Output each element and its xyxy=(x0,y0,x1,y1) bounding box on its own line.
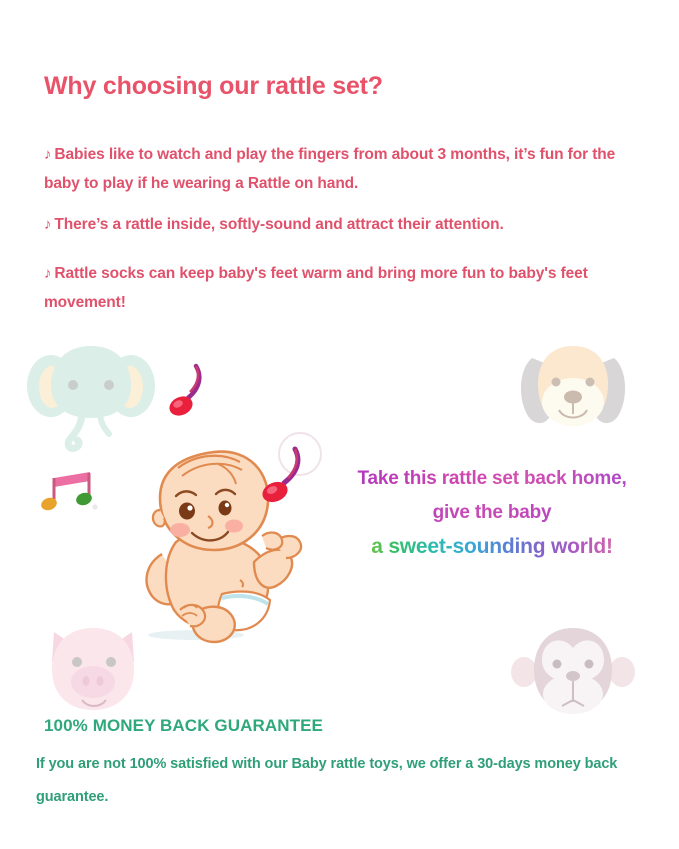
music-note-bullet-icon: ♪ xyxy=(44,216,54,233)
feature-bullet-text: Babies like to watch and play the finger… xyxy=(44,146,615,192)
music-note-bullet-icon: ♪ xyxy=(44,146,54,163)
music-note-single-mid-icon xyxy=(258,446,310,508)
page-title: Why choosing our rattle set? xyxy=(44,72,383,101)
monkey-face-icon xyxy=(510,620,636,730)
slogan-line-2: give the baby xyxy=(322,496,662,530)
feature-bullet: ♪Babies like to watch and play the finge… xyxy=(44,140,624,198)
feature-bullet-text: Rattle socks can keep baby's feet warm a… xyxy=(44,265,588,311)
music-note-beamed-pair-icon xyxy=(40,466,100,520)
feature-bullet-text: There’s a rattle inside, softly-sound an… xyxy=(54,216,503,233)
slogan-line-1: Take this rattle set back home, xyxy=(322,462,662,496)
slogan-line-3: a sweet-sounding world! xyxy=(322,530,662,564)
music-note-single-top-icon xyxy=(166,362,212,422)
feature-bullet: ♪There’s a rattle inside, softly-sound a… xyxy=(44,210,624,239)
slogan-block: Take this rattle set back home, give the… xyxy=(322,462,662,564)
guarantee-body-text: If you are not 100% satisfied with our B… xyxy=(36,748,652,814)
guarantee-title: 100% MONEY BACK GUARANTEE xyxy=(44,716,323,736)
music-note-bullet-icon: ♪ xyxy=(44,265,54,282)
elephant-face-icon xyxy=(26,338,156,453)
dog-face-icon xyxy=(512,340,634,455)
feature-bullet: ♪Rattle socks can keep baby's feet warm … xyxy=(44,259,624,317)
product-description-page: Why choosing our rattle set? ♪Babies lik… xyxy=(0,0,679,849)
